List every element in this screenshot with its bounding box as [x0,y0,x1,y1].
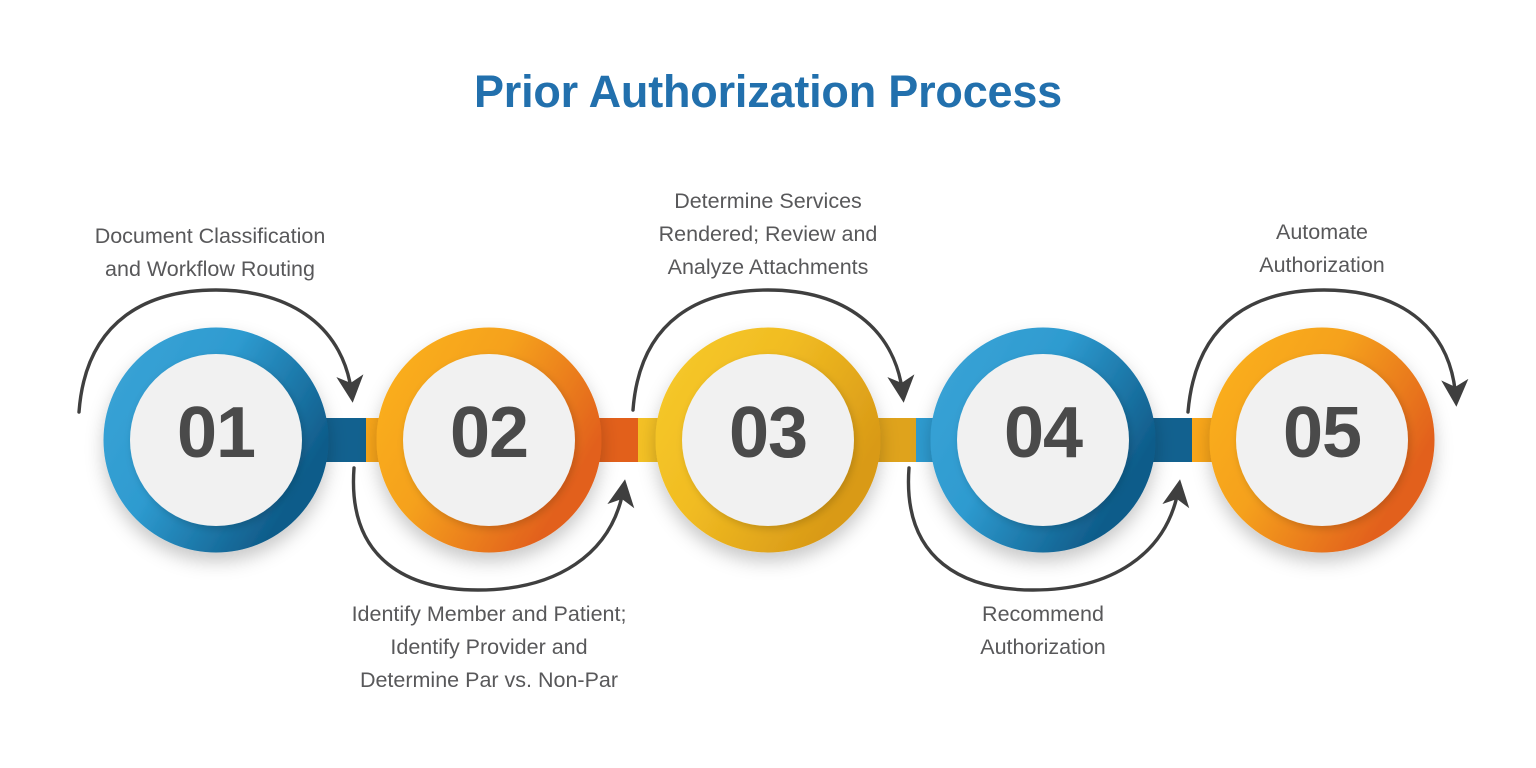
process-flow-diagram [0,0,1536,768]
step-disc-02 [403,354,575,526]
step-caption-04: Recommend Authorization [893,598,1193,664]
step-caption-05: Automate Authorization [1172,216,1472,282]
step-disc-03 [682,354,854,526]
step-caption-03: Determine Services Rendered; Review and … [588,185,948,284]
step-disc-04 [957,354,1129,526]
step-caption-01: Document Classification and Workflow Rou… [0,220,420,286]
step-disc-05 [1236,354,1408,526]
step-circle-02[interactable] [390,341,588,539]
step-circle-05[interactable] [1223,341,1421,539]
step-caption-02: Identify Member and Patient; Identify Pr… [309,598,669,697]
step-disc-01 [130,354,302,526]
infographic-canvas: Prior Authorization Process [0,0,1536,768]
step-circle-04[interactable] [944,341,1142,539]
step-circle-03[interactable] [669,341,867,539]
step-circle-01[interactable] [117,341,315,539]
